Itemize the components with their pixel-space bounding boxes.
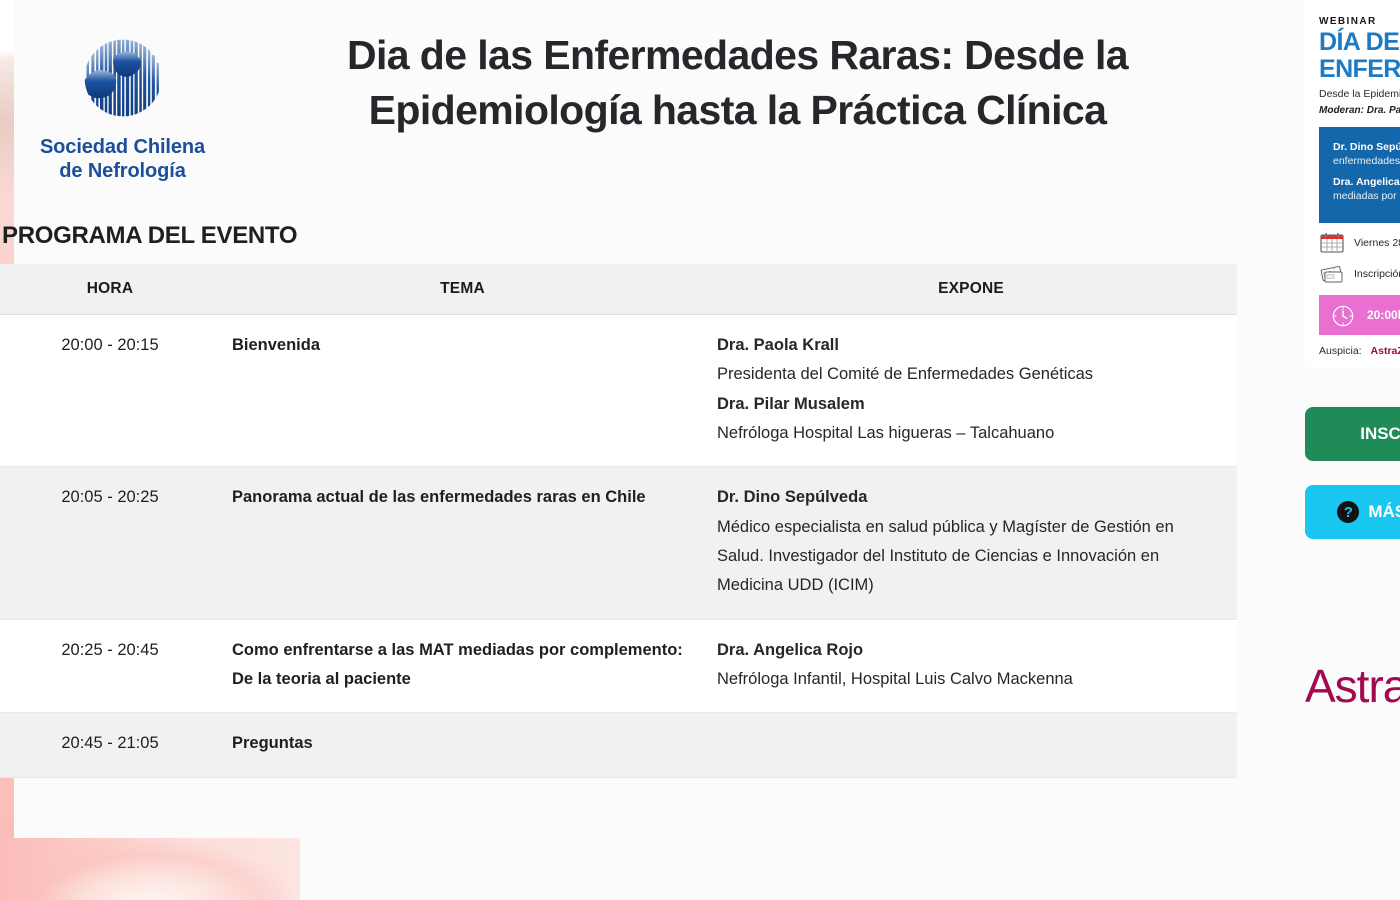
- flyer-speaker-2-name: Dra. Angelica Rojo:: [1333, 175, 1400, 189]
- cell-tema: Como enfrentarse a las MAT mediadas por …: [220, 619, 705, 713]
- flyer-title-line2: ENFERMEDADES: [1319, 56, 1400, 83]
- flyer-time-bar: 20:00h: [1319, 295, 1400, 335]
- table-row: 20:25 - 20:45Como enfrentarse a las MAT …: [0, 619, 1237, 713]
- section-title-programa: PROGRAMA DEL EVENTO: [0, 222, 1400, 250]
- speaker-name: Dr. Dino Sepúlveda: [717, 483, 1225, 512]
- register-button-label: INSCRÍBETE AQUÍ: [1360, 424, 1400, 444]
- cell-expone: Dra. Paola KrallPresidenta del Comité de…: [705, 314, 1237, 466]
- flyer-date-row: Viernes 28 de febrero: [1319, 232, 1400, 254]
- flyer-sponsor-name: AstraZeneca: [1371, 345, 1400, 357]
- flyer-speaker-2-topic: mediadas por complemento: [1333, 189, 1400, 203]
- cell-hora: 20:25 - 20:45: [0, 619, 220, 713]
- table-body: 20:00 - 20:15BienvenidaDra. Paola KrallP…: [0, 314, 1237, 777]
- cell-expone: [705, 713, 1237, 777]
- flyer-title-line1: DÍA DE LAS: [1319, 29, 1400, 56]
- flyer-title: DÍA DE LAS ENFERMEDADES: [1319, 29, 1400, 82]
- calendar-icon: [1319, 232, 1345, 254]
- right-sidebar: WEBINAR DÍA DE LAS ENFERMEDADES Desde la…: [1305, 0, 1400, 900]
- table-header-row: HORA TEMA EXPONE: [0, 264, 1237, 315]
- page-title: Dia de las Enfermedades Raras: Desde la …: [265, 28, 1210, 137]
- flyer-moderators: Moderan: Dra. Paola Krall y Dra. Pilar M…: [1319, 105, 1400, 116]
- page-root: Sociedad Chilena de Nefrología Dia de la…: [0, 0, 1400, 900]
- organization-name-line2: de Nefrología: [40, 159, 205, 183]
- organization-brand: Sociedad Chilena de Nefrología: [0, 18, 245, 184]
- flyer-speaker-1-topic: enfermedades raras en Chile: [1333, 154, 1400, 168]
- table-head: HORA TEMA EXPONE: [0, 264, 1237, 315]
- flyer-date-text: Viernes 28 de febrero: [1354, 237, 1400, 249]
- title-container: Dia de las Enfermedades Raras: Desde la …: [245, 18, 1240, 137]
- flyer-ticket-row: Inscripción gratuita: [1319, 263, 1400, 285]
- table-row: 20:00 - 20:15BienvenidaDra. Paola KrallP…: [0, 314, 1237, 466]
- speaker-role: Médico especialista en salud pública y M…: [717, 513, 1225, 601]
- page-header: Sociedad Chilena de Nefrología Dia de la…: [0, 0, 1240, 184]
- organization-name-line1: Sociedad Chilena: [40, 135, 205, 159]
- cell-hora: 20:05 - 20:25: [0, 467, 220, 619]
- flyer-sponsor-label: Auspicia:: [1319, 345, 1362, 357]
- speaker-role: Presidenta del Comité de Enfermedades Ge…: [717, 360, 1225, 389]
- flyer-time-text: 20:00h: [1367, 308, 1400, 322]
- speaker-name: Dra. Pilar Musalem: [717, 390, 1225, 419]
- organization-name: Sociedad Chilena de Nefrología: [40, 135, 205, 184]
- webinar-flyer-card[interactable]: WEBINAR DÍA DE LAS ENFERMEDADES Desde la…: [1305, 0, 1400, 367]
- flyer-kicker: WEBINAR: [1319, 16, 1400, 27]
- flyer-speaker-1-name: Dr. Dino Sepúlveda:: [1333, 140, 1400, 154]
- flyer-subtitle: Desde la Epidemiología hasta la Práctica…: [1319, 88, 1400, 102]
- astrazeneca-logo: AstraZeneca: [1305, 659, 1400, 713]
- column-header-tema: TEMA: [220, 264, 705, 315]
- register-button[interactable]: INSCRÍBETE AQUÍ: [1305, 407, 1400, 461]
- flyer-sponsor-line: Auspicia: AstraZeneca: [1319, 345, 1400, 357]
- cell-tema: Preguntas: [220, 713, 705, 777]
- column-header-expone: EXPONE: [705, 264, 1237, 315]
- cell-expone: Dra. Angelica RojoNefróloga Infantil, Ho…: [705, 619, 1237, 713]
- cell-tema: Bienvenida: [220, 314, 705, 466]
- speaker-role: Nefróloga Hospital Las higueras – Talcah…: [717, 419, 1225, 448]
- table-row: 20:45 - 21:05Preguntas: [0, 713, 1237, 777]
- cell-hora: 20:45 - 21:05: [0, 713, 220, 777]
- cell-expone: Dr. Dino SepúlvedaMédico especialista en…: [705, 467, 1237, 619]
- table-row: 20:05 - 20:25Panorama actual de las enfe…: [0, 467, 1237, 619]
- cell-hora: 20:00 - 20:15: [0, 314, 220, 466]
- flyer-ticket-text: Inscripción gratuita: [1354, 268, 1400, 280]
- striped-circle-logo-icon: [75, 30, 171, 126]
- flyer-speakers-box: Dr. Dino Sepúlveda: enfermedades raras e…: [1319, 127, 1400, 224]
- speaker-name: Dra. Paola Krall: [717, 331, 1225, 360]
- ticket-icon: [1319, 263, 1345, 285]
- more-info-button[interactable]: ? MÁS INFORMACIÓN: [1305, 485, 1400, 539]
- speaker-role: Nefróloga Infantil, Hospital Luis Calvo …: [717, 665, 1225, 694]
- more-info-button-label: MÁS INFORMACIÓN: [1368, 502, 1400, 522]
- speaker-name: Dra. Angelica Rojo: [717, 636, 1225, 665]
- program-schedule-table: HORA TEMA EXPONE 20:00 - 20:15Bienvenida…: [0, 264, 1237, 778]
- clock-icon: [1331, 304, 1357, 326]
- cell-tema: Panorama actual de las enfermedades rara…: [220, 467, 705, 619]
- question-mark-icon: ?: [1337, 501, 1359, 523]
- column-header-hora: HORA: [0, 264, 220, 315]
